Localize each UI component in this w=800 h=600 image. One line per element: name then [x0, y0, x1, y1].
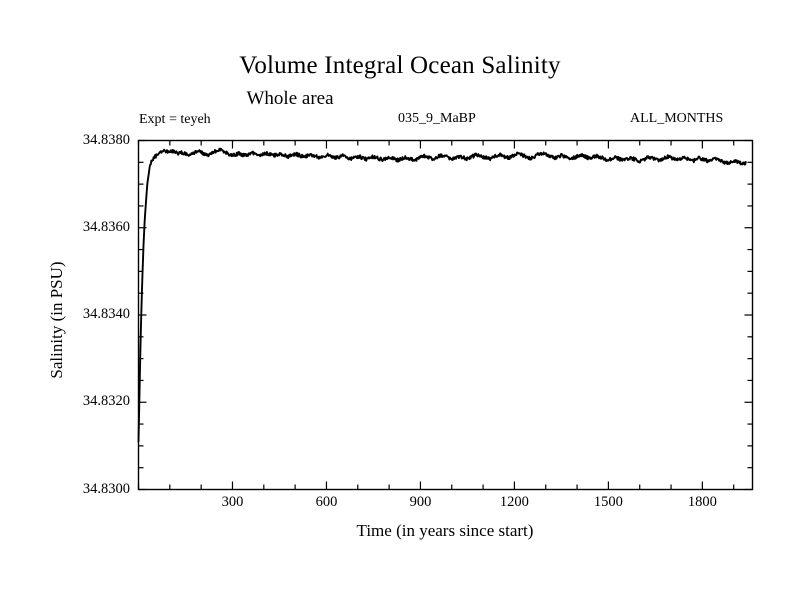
x-axis-tick-labels: 300600900120015001800	[0, 495, 800, 525]
x-tick-label-0: 300	[192, 495, 272, 510]
x-tick-label-5: 1800	[662, 495, 742, 510]
experiment-label: Expt = teyeh	[139, 112, 211, 128]
y-tick-label-2: 34.8340	[40, 307, 130, 322]
x-tick-label-1: 600	[286, 495, 366, 510]
months-label: ALL_MONTHS	[630, 111, 723, 127]
series-line-0	[139, 149, 746, 442]
x-tick-label-3: 1200	[474, 495, 554, 510]
y-tick-label-4: 34.8300	[40, 482, 130, 497]
axis-ticks	[139, 141, 753, 490]
axes-frame	[139, 141, 753, 490]
x-tick-label-2: 900	[380, 495, 460, 510]
x-tick-label-4: 1500	[568, 495, 648, 510]
data-series	[139, 149, 746, 442]
y-tick-label-0: 34.8380	[40, 133, 130, 148]
y-tick-label-3: 34.8320	[40, 394, 130, 409]
run-id-label: 035_9_MaBP	[398, 111, 476, 127]
y-tick-label-1: 34.8360	[40, 220, 130, 235]
plot-frame	[139, 141, 753, 490]
chart-figure: Volume Integral Ocean Salinity Whole are…	[0, 0, 800, 600]
